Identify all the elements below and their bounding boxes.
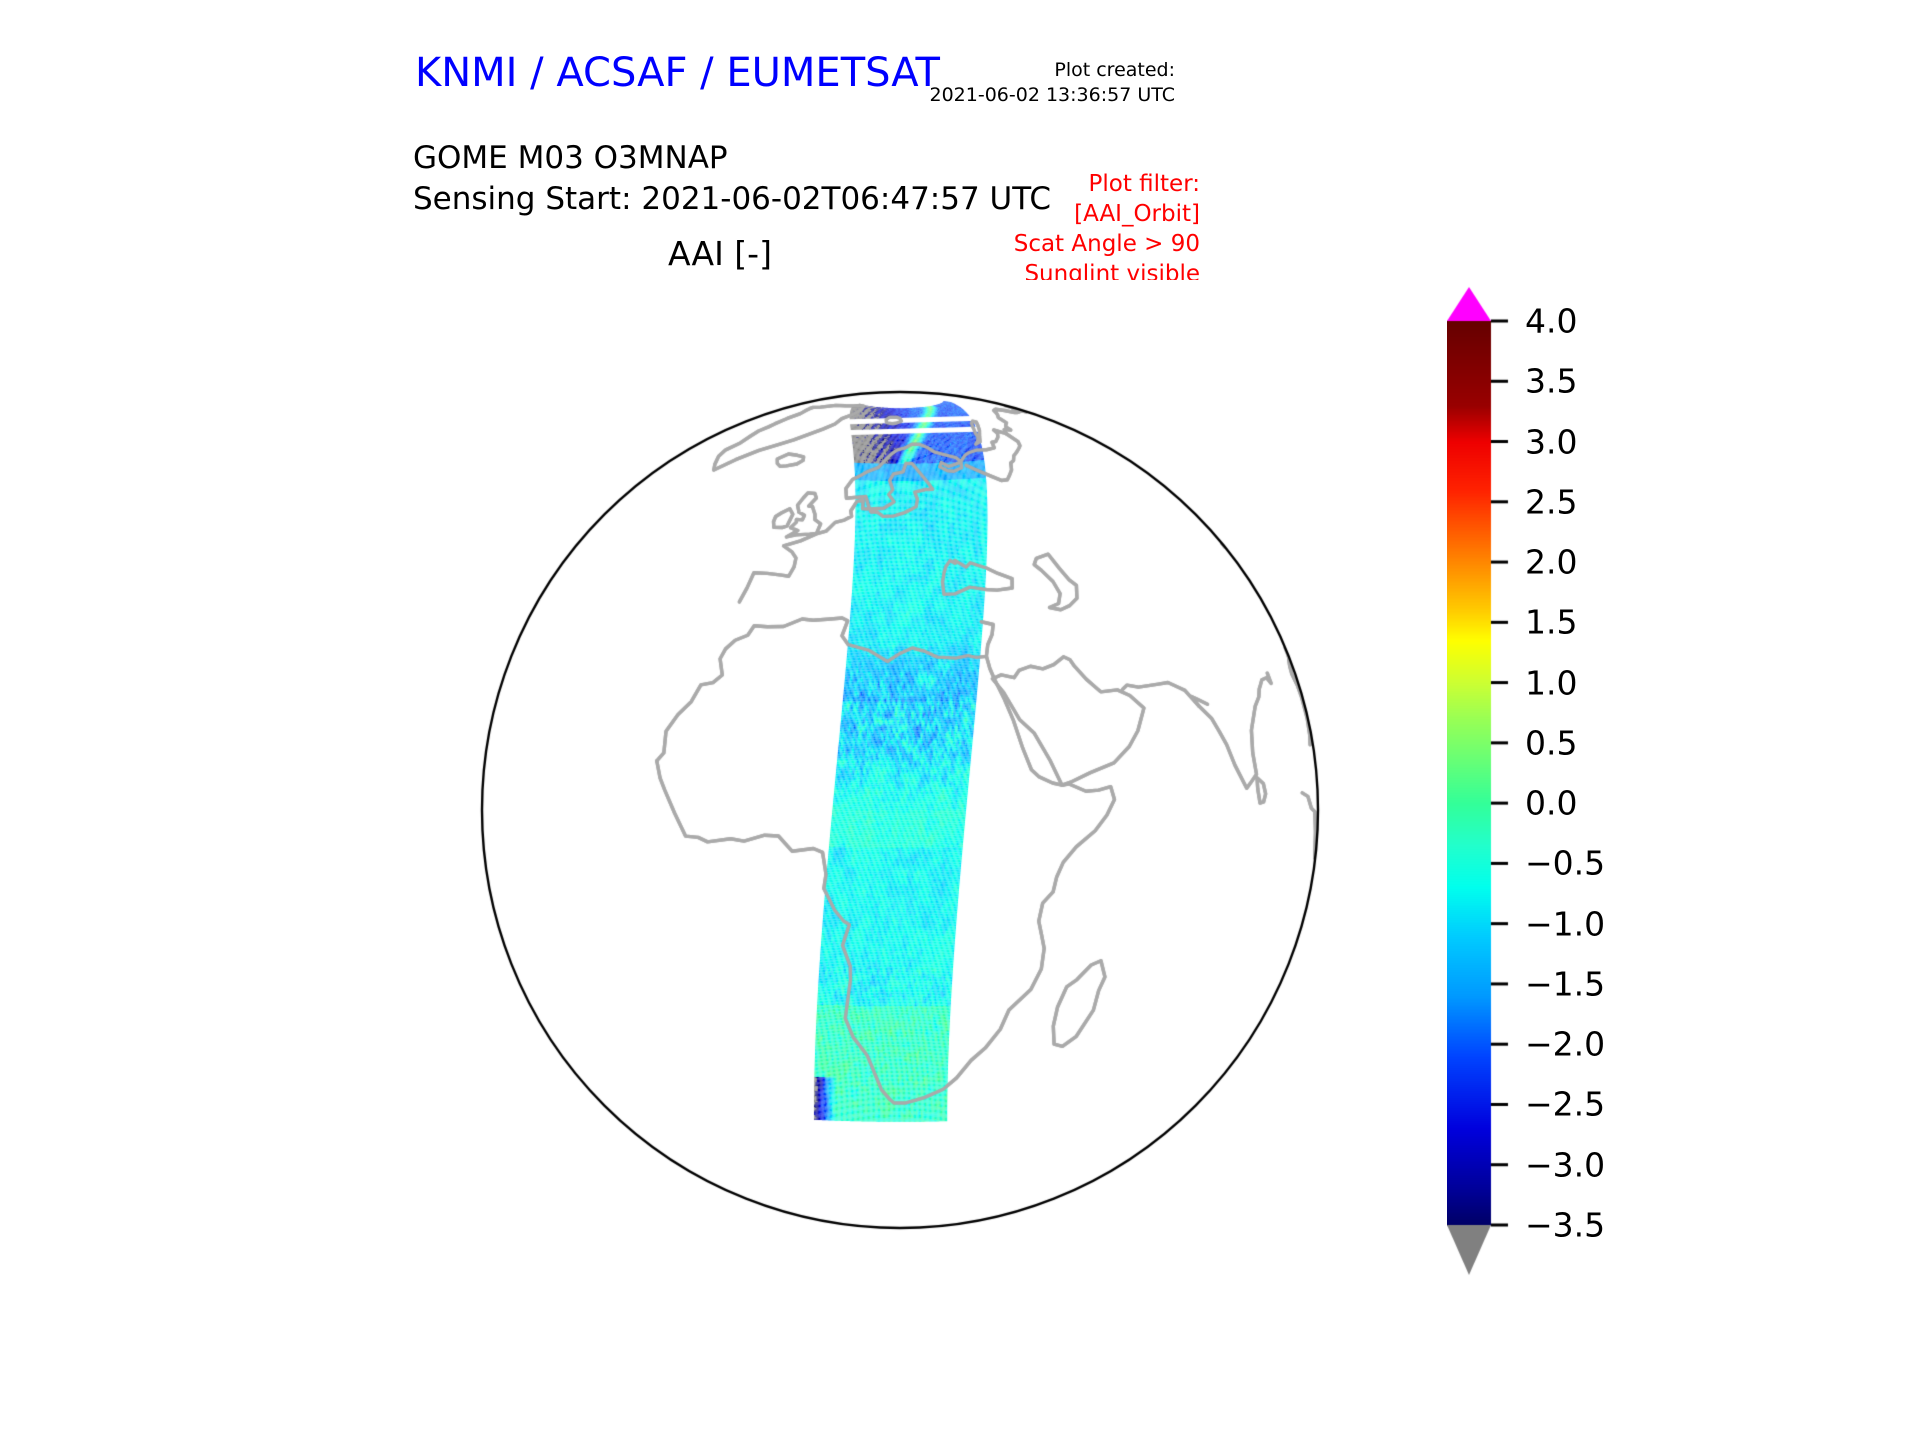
colorbar-tick-label: 0.5 bbox=[1525, 723, 1577, 762]
colorbar-tick-label: −1.0 bbox=[1525, 904, 1605, 943]
colorbar-tick-label: −0.5 bbox=[1525, 844, 1605, 883]
colorbar-tick-label: 1.0 bbox=[1525, 663, 1577, 702]
product-info-block: GOME M03 O3MNAP Sensing Start: 2021-06-0… bbox=[413, 138, 1051, 220]
colorbar-tick-label: 2.0 bbox=[1525, 543, 1577, 582]
colorbar-tick-label: 0.0 bbox=[1525, 784, 1577, 823]
colorbar-tick-label: −3.5 bbox=[1525, 1206, 1605, 1245]
colorbar-tick-label: −2.0 bbox=[1525, 1025, 1605, 1064]
colorbar-gradient bbox=[1447, 285, 1777, 1305]
organization-title: KNMI / ACSAF / EUMETSAT bbox=[415, 50, 940, 96]
colorbar-tick-label: −2.5 bbox=[1525, 1085, 1605, 1124]
colorbar-tick-label: 2.5 bbox=[1525, 482, 1577, 521]
plot-filter-orbit: [AAI_Orbit] bbox=[1014, 200, 1200, 230]
orthographic-globe-map bbox=[370, 280, 1430, 1340]
plot-created-block: Plot created: 2021-06-02 13:36:57 UTC bbox=[930, 58, 1176, 108]
plot-created-timestamp: 2021-06-02 13:36:57 UTC bbox=[930, 83, 1176, 108]
colorbar-tick-label: 1.5 bbox=[1525, 603, 1577, 642]
colorbar-tick-label: −1.5 bbox=[1525, 964, 1605, 1003]
colorbar-tick-label: −3.0 bbox=[1525, 1145, 1605, 1184]
colorbar-tick-label: 3.0 bbox=[1525, 422, 1577, 461]
chart-title: AAI [-] bbox=[0, 234, 1440, 273]
product-name: GOME M03 O3MNAP bbox=[413, 138, 1051, 179]
plot-created-label: Plot created: bbox=[930, 58, 1176, 83]
colorbar-tick-label: 4.0 bbox=[1525, 302, 1577, 341]
plot-filter-label: Plot filter: bbox=[1014, 170, 1200, 200]
map-canvas bbox=[370, 280, 1430, 1340]
sensing-start: Sensing Start: 2021-06-02T06:47:57 UTC bbox=[413, 179, 1051, 220]
colorbar-tick-label: 3.5 bbox=[1525, 362, 1577, 401]
colorbar: 4.03.53.02.52.01.51.00.50.0−0.5−1.0−1.5−… bbox=[1447, 285, 1777, 1305]
